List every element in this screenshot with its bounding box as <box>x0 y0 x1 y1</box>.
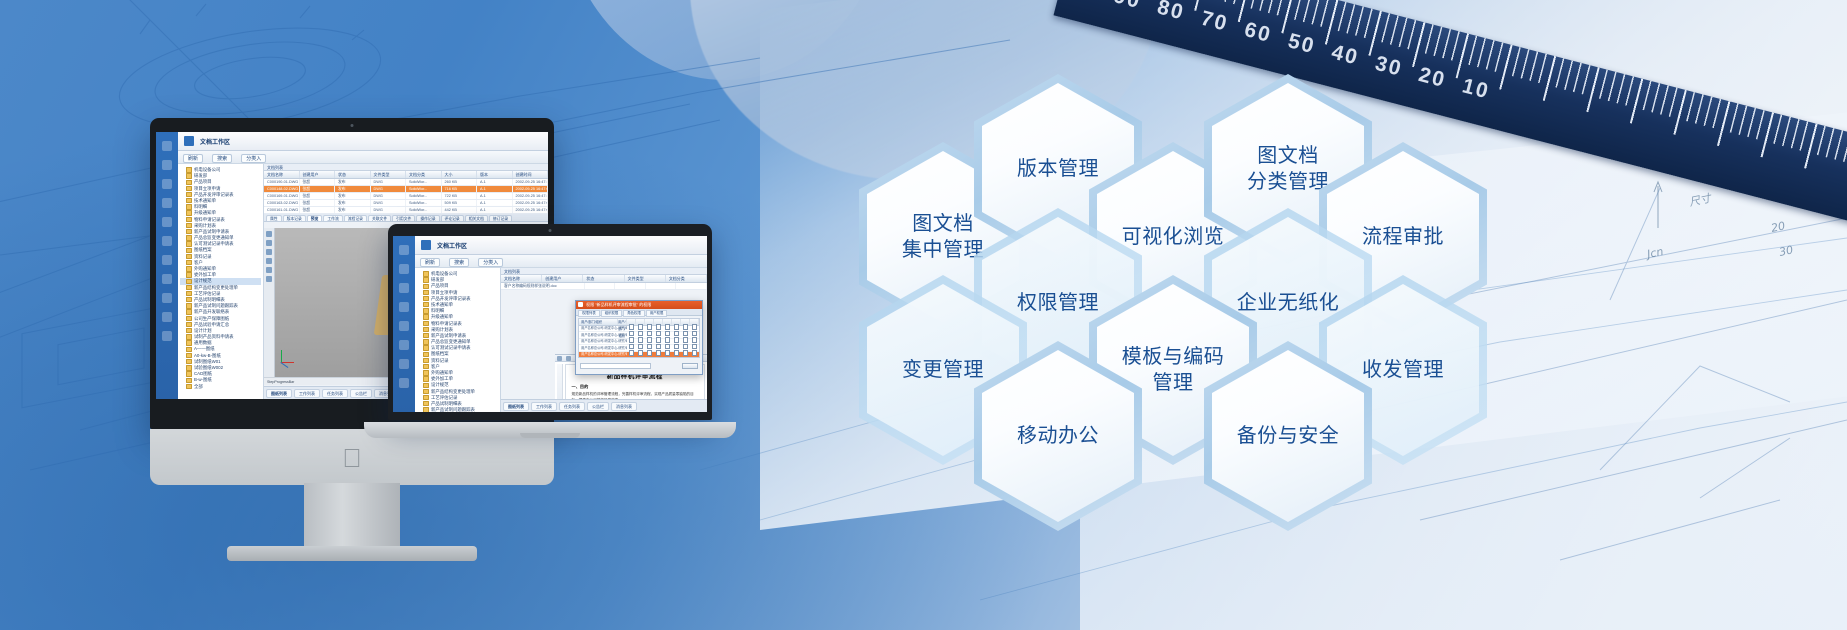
table-cell: A.1 <box>477 179 513 185</box>
hex-label: 备份与安全 <box>1229 423 1348 449</box>
detail-tabs[interactable]: 属性版本记录预览工作流流程记录关联文件引用文件操作记录评论记录相关文档修订记录 <box>264 214 548 222</box>
permissions-dialog-tabs[interactable]: 权限列表组织权限角色权限用户权限 <box>576 309 702 316</box>
table-cell: 张超 <box>300 179 336 185</box>
column-header[interactable]: 大小 <box>442 171 478 178</box>
laptop-document-tree[interactable]: 机电设备公司研发部产品项目项目立项申请产品开发评审记录表技术通知单料明细升级通知… <box>415 268 501 412</box>
table-cell: DWG <box>371 207 407 213</box>
column-header[interactable]: 状态 <box>335 171 371 178</box>
macbook-laptop: 文档工作区 刷新 搜索 分类入 机电设备公司研发部产品项目项目立项申请产品开发评… <box>388 224 712 420</box>
permission-checkbox[interactable] <box>672 350 681 357</box>
table-cell: SolidWor... <box>406 200 442 206</box>
table-cell: 722 KB <box>442 193 478 199</box>
laptop-toolbar-refresh[interactable]: 刷新 <box>420 258 440 267</box>
laptop-tree-item[interactable]: 新产品试制问题跟踪表 <box>417 407 498 412</box>
permissions-dialog-footer[interactable] <box>578 360 700 372</box>
hex-label: 企业无纸化 <box>1229 290 1348 316</box>
laptop-bottom-tabs[interactable]: 图纸列表工作列表任务列表公告栏消息列表 <box>501 399 707 412</box>
hex-inner: 备份与安全 <box>1212 350 1364 522</box>
table-cell: C000148-02.DWG <box>264 186 300 192</box>
toolbar-import-button[interactable]: 分类入 <box>241 154 266 163</box>
sidebar-icon-search[interactable] <box>162 236 172 246</box>
dialog-table-row[interactable]: 用户名称总公司-研发中心-研究/研发流程 <box>579 352 699 358</box>
detail-tab[interactable]: 预览 <box>307 215 323 222</box>
app-toolbar[interactable]: 刷新 搜索 分类入 <box>178 151 548 164</box>
table-cell: C000161-01.DWG <box>264 207 300 213</box>
laptop-sidebar-icon-clock[interactable] <box>399 302 409 312</box>
dialog-tab[interactable]: 角色权限 <box>623 310 645 317</box>
permission-checkbox[interactable] <box>654 350 663 357</box>
detail-tab[interactable]: 引用文件 <box>392 215 415 222</box>
bottom-tab[interactable]: 任务列表 <box>322 389 348 398</box>
dialog-tab[interactable]: 组织权限 <box>601 310 623 317</box>
viewer-icon-print[interactable] <box>266 276 272 282</box>
svg-text:30: 30 <box>1778 243 1794 259</box>
bottom-tab[interactable]: 工作列表 <box>531 402 557 411</box>
table-cell: A.1 <box>477 207 513 213</box>
column-header[interactable]: 版本 <box>477 171 513 178</box>
imac-stand-foot <box>227 546 477 561</box>
permissions-grid[interactable]: 用户/部门/组织用户/部门/组织 用户名称总公司-研发中心-研究/研发部门用户名… <box>578 318 700 358</box>
permissions-dialog[interactable]: 权限 "新品样机评审流程审批" 的权限 权限列表组织权限角色权限用户权限 用户/… <box>575 300 703 375</box>
laptop-toolbar-import[interactable]: 分类入 <box>478 258 503 267</box>
table-cell: SolidWor... <box>406 186 442 192</box>
macbook-camera <box>549 229 552 232</box>
detail-tab[interactable]: 相关文档 <box>465 215 488 222</box>
hex-label: 变更管理 <box>894 357 992 383</box>
pdm-app-window-laptop: 文档工作区 刷新 搜索 分类入 机电设备公司研发部产品项目项目立项申请产品开发评… <box>393 236 707 412</box>
permissions-grid-body[interactable]: 用户名称总公司-研发中心-研究/研发部门用户名称总公司-研发中心-研究/研发记录… <box>579 326 699 358</box>
detail-tab[interactable]: 操作记录 <box>416 215 439 222</box>
table-cell: 2002-09-25 16:47:11 <box>513 179 549 185</box>
laptop-column-header[interactable]: 创建用户 <box>542 275 583 282</box>
table-cell: SolidWor... <box>406 193 442 199</box>
app-titlebar: 文档工作区 <box>178 132 548 151</box>
sidebar-icon-clock[interactable] <box>162 198 172 208</box>
table-cell: C000190-01.DWG <box>264 179 300 185</box>
file-list-header: 文档名称创建用户状态文件类型文档分类大小版本创建时间 <box>264 171 548 179</box>
laptop-selected-file-row[interactable]: 客户名称编码规则样张说明.doc <box>501 283 707 290</box>
laptop-sidebar-icon-chart[interactable] <box>399 283 409 293</box>
app-window-title: 文档工作区 <box>200 137 230 146</box>
macbook-notch <box>520 433 580 438</box>
sidebar-icon-user[interactable] <box>162 293 172 303</box>
table-row[interactable]: C000161-01.DWG张超发布DWGSolidWor...442 KBA.… <box>264 207 548 214</box>
hex-inner: 移动办公 <box>982 350 1134 522</box>
hex-label: 版本管理 <box>1009 156 1107 182</box>
laptop-window-title: 文档工作区 <box>437 241 467 250</box>
svg-text:Jcn: Jcn <box>1644 245 1665 262</box>
hex-label: 收发管理 <box>1354 357 1452 383</box>
permissions-confirm-button[interactable] <box>682 363 698 369</box>
permission-checkbox[interactable] <box>636 350 645 357</box>
file-list-body[interactable]: C000190-01.DWG张超发布DWGSolidWor...260 KBA.… <box>264 179 548 214</box>
document-section-1: 一、目的 <box>572 384 698 390</box>
viewer-icon-pan[interactable] <box>266 231 272 237</box>
table-row[interactable]: C000169-01.DWG张超发布DWGSolidWor...722 KBA.… <box>264 193 548 200</box>
detail-tab[interactable]: 流程记录 <box>344 215 367 222</box>
viewer-icon-measure[interactable] <box>266 249 272 255</box>
table-cell: DWG <box>371 193 407 199</box>
dialog-tab[interactable]: 用户权限 <box>646 310 668 317</box>
viewer-icon-layers[interactable] <box>266 267 272 273</box>
sidebar-icon-doc[interactable] <box>162 217 172 227</box>
app-logo-icon <box>184 136 194 146</box>
table-cell: A.1 <box>477 193 513 199</box>
macbook-screen: 文档工作区 刷新 搜索 分类入 机电设备公司研发部产品项目项目立项申请产品开发评… <box>393 236 707 412</box>
laptop-titlebar: 文档工作区 <box>415 236 707 255</box>
permission-checkbox[interactable] <box>690 350 699 357</box>
table-cell: 260 KB <box>442 179 478 185</box>
laptop-selected-file-name: 客户名称编码规则样张说明.doc <box>501 283 585 289</box>
laptop-sidebar-icon-folder[interactable] <box>399 264 409 274</box>
detail-tab[interactable]: 属性 <box>266 215 282 222</box>
laptop-content-pane: 文档列表 文档名称创建用户状态文件类型文档分类 客户名称编码规则样张说明.doc <box>501 268 707 412</box>
table-cell: DWG <box>371 179 407 185</box>
detail-tab[interactable]: 评论记录 <box>441 215 464 222</box>
table-cell: 张超 <box>300 207 336 213</box>
table-cell: C000169-01.DWG <box>264 193 300 199</box>
table-cell: 509 KB <box>442 200 478 206</box>
svg-text:20: 20 <box>1770 219 1786 235</box>
bottom-tab[interactable]: 图纸列表 <box>266 389 292 398</box>
toolbar-refresh-button[interactable]: 刷新 <box>183 154 203 163</box>
dialog-tab[interactable]: 权限列表 <box>578 310 600 317</box>
table-cell: 张超 <box>300 193 336 199</box>
laptop-column-header[interactable]: 状态 <box>583 275 624 282</box>
column-header[interactable]: 文件类型 <box>371 171 407 178</box>
table-cell: 发布 <box>335 179 371 185</box>
document-vertical-ruler <box>557 364 563 403</box>
detail-tab[interactable]: 修订记录 <box>489 215 512 222</box>
imac-camera <box>351 124 354 127</box>
table-cell: 2002-09-25 16:47:09 <box>513 207 549 213</box>
viewer-status-text: StepProgressBar <box>267 380 294 384</box>
laptop-file-panel-title: 文档列表 <box>501 268 707 275</box>
viewer-icon-section[interactable] <box>266 258 272 264</box>
banner-stage: 尺寸 Jcn 20 30 100908070605040302010 <box>0 0 1847 630</box>
table-row[interactable]: C000163-02.DWG张超发布DWGSolidWor...509 KBA.… <box>264 200 548 207</box>
imac-stand-neck <box>304 483 400 549</box>
laptop-sidebar-icon-doc[interactable] <box>399 321 409 331</box>
viewer-toolbar[interactable] <box>264 228 275 385</box>
sidebar-icon-gear[interactable] <box>162 274 172 284</box>
svg-text:尺寸: 尺寸 <box>1688 191 1714 209</box>
sidebar-icon-grid[interactable] <box>162 312 172 322</box>
table-cell: 发布 <box>335 200 371 206</box>
permissions-dialog-title: 权限 "新品样机评审流程审批" 的权限 <box>576 301 702 309</box>
bottom-tab[interactable]: 图纸列表 <box>503 402 529 411</box>
laptop-column-header[interactable]: 文件类型 <box>625 275 666 282</box>
laptop-column-header[interactable]: 文档分类 <box>666 275 707 282</box>
table-cell: 442 KB <box>442 207 478 213</box>
table-cell: 2002-09-25 16:47:10 <box>513 193 549 199</box>
dialog-row-label: 用户名称总公司-研发中心-研究/研发流程 <box>579 351 627 357</box>
laptop-sidebar-icon-search[interactable] <box>399 340 409 350</box>
column-header[interactable]: 创建用户 <box>300 171 336 178</box>
sidebar-icon-share[interactable] <box>162 255 172 265</box>
laptop-app-logo-icon <box>421 240 431 250</box>
bottom-tab[interactable]: 任务列表 <box>559 402 585 411</box>
table-cell: SolidWor... <box>406 179 442 185</box>
bottom-tab[interactable]: 消息列表 <box>611 402 637 411</box>
sidebar-icon-home[interactable] <box>162 141 172 151</box>
table-cell: 716 KB <box>442 186 478 192</box>
detail-tab[interactable]: 版本记录 <box>283 215 306 222</box>
permission-checkbox[interactable] <box>681 350 690 357</box>
table-cell: 发布 <box>335 186 371 192</box>
laptop-column-header[interactable]: 文档名称 <box>501 275 542 282</box>
doc-icon-pen[interactable] <box>566 356 571 361</box>
detail-tab[interactable]: 工作流 <box>323 215 342 222</box>
hex-label: 图文档分类管理 <box>1239 143 1337 194</box>
sidebar-icon-folder[interactable] <box>162 160 172 170</box>
table-cell: DWG <box>371 200 407 206</box>
table-cell: 2002-09-25 16:47:09 <box>513 200 549 206</box>
hex-label: 权限管理 <box>1009 290 1107 316</box>
permissions-inherit-field[interactable] <box>580 363 651 369</box>
app-sidebar[interactable] <box>156 132 178 399</box>
dialog-column-header[interactable]: 用户/部门/组织 <box>579 319 618 325</box>
detail-tab[interactable]: 关联文件 <box>368 215 391 222</box>
permission-checkbox[interactable] <box>627 350 636 357</box>
table-cell: 张超 <box>300 200 336 206</box>
table-cell: 2002-09-25 16:47:09 <box>513 186 549 192</box>
document-tree[interactable]: 机电设备公司研发部产品项目项目立项申请产品开发评审记录表技术通知单料明细升级通知… <box>178 164 264 399</box>
sidebar-icon-lock[interactable] <box>162 331 172 341</box>
bottom-tab[interactable]: 工作列表 <box>294 389 320 398</box>
table-cell: A.1 <box>477 200 513 206</box>
laptop-toolbar-search[interactable]: 搜索 <box>449 258 469 267</box>
table-row[interactable]: C000190-01.DWG张超发布DWGSolidWor...260 KBA.… <box>264 179 548 186</box>
column-header[interactable]: 文档名称 <box>264 171 300 178</box>
hex-label: 移动办公 <box>1009 423 1107 449</box>
apple-logo-icon:  <box>342 445 362 471</box>
table-cell: DWG <box>371 186 407 192</box>
table-row[interactable]: C000148-02.DWG张超发布DWGSolidWor...716 KBA.… <box>264 186 548 193</box>
table-cell: 发布 <box>335 193 371 199</box>
laptop-sidebar-icon-user[interactable] <box>399 378 409 388</box>
toolbar-search-button[interactable]: 搜索 <box>212 154 232 163</box>
dialog-column-header[interactable]: 用户/部门/组织 <box>618 319 627 325</box>
laptop-sidebar[interactable] <box>393 236 415 412</box>
laptop-sidebar-icon-home[interactable] <box>399 245 409 255</box>
laptop-file-list-header: 文档名称创建用户状态文件类型文档分类 <box>501 275 707 283</box>
viewer-icon-note[interactable] <box>266 240 272 246</box>
table-cell: A.1 <box>477 186 513 192</box>
bottom-tab[interactable]: 公告栏 <box>350 389 372 398</box>
permission-checkbox[interactable] <box>645 350 654 357</box>
doc-icon-select[interactable] <box>557 356 562 361</box>
file-panel-title: 文档列表 <box>264 164 548 171</box>
column-header[interactable]: 创建时间 <box>513 171 549 178</box>
laptop-toolbar[interactable]: 刷新 搜索 分类入 <box>415 255 707 268</box>
table-cell: SolidWor... <box>406 207 442 213</box>
table-cell: C000163-02.DWG <box>264 200 300 206</box>
sidebar-icon-chart[interactable] <box>162 179 172 189</box>
table-cell: 张超 <box>300 186 336 192</box>
permission-checkbox[interactable] <box>663 350 672 357</box>
tree-item[interactable]: 全部 <box>180 384 261 390</box>
laptop-sidebar-icon-gear[interactable] <box>399 359 409 369</box>
hex-label: 流程审批 <box>1354 224 1452 250</box>
table-cell: 发布 <box>335 207 371 213</box>
bottom-tab[interactable]: 公告栏 <box>587 402 609 411</box>
axis-triad-icon <box>281 341 307 363</box>
column-header[interactable]: 文档分类 <box>406 171 442 178</box>
hex-label: 可视化浏览 <box>1114 224 1233 250</box>
